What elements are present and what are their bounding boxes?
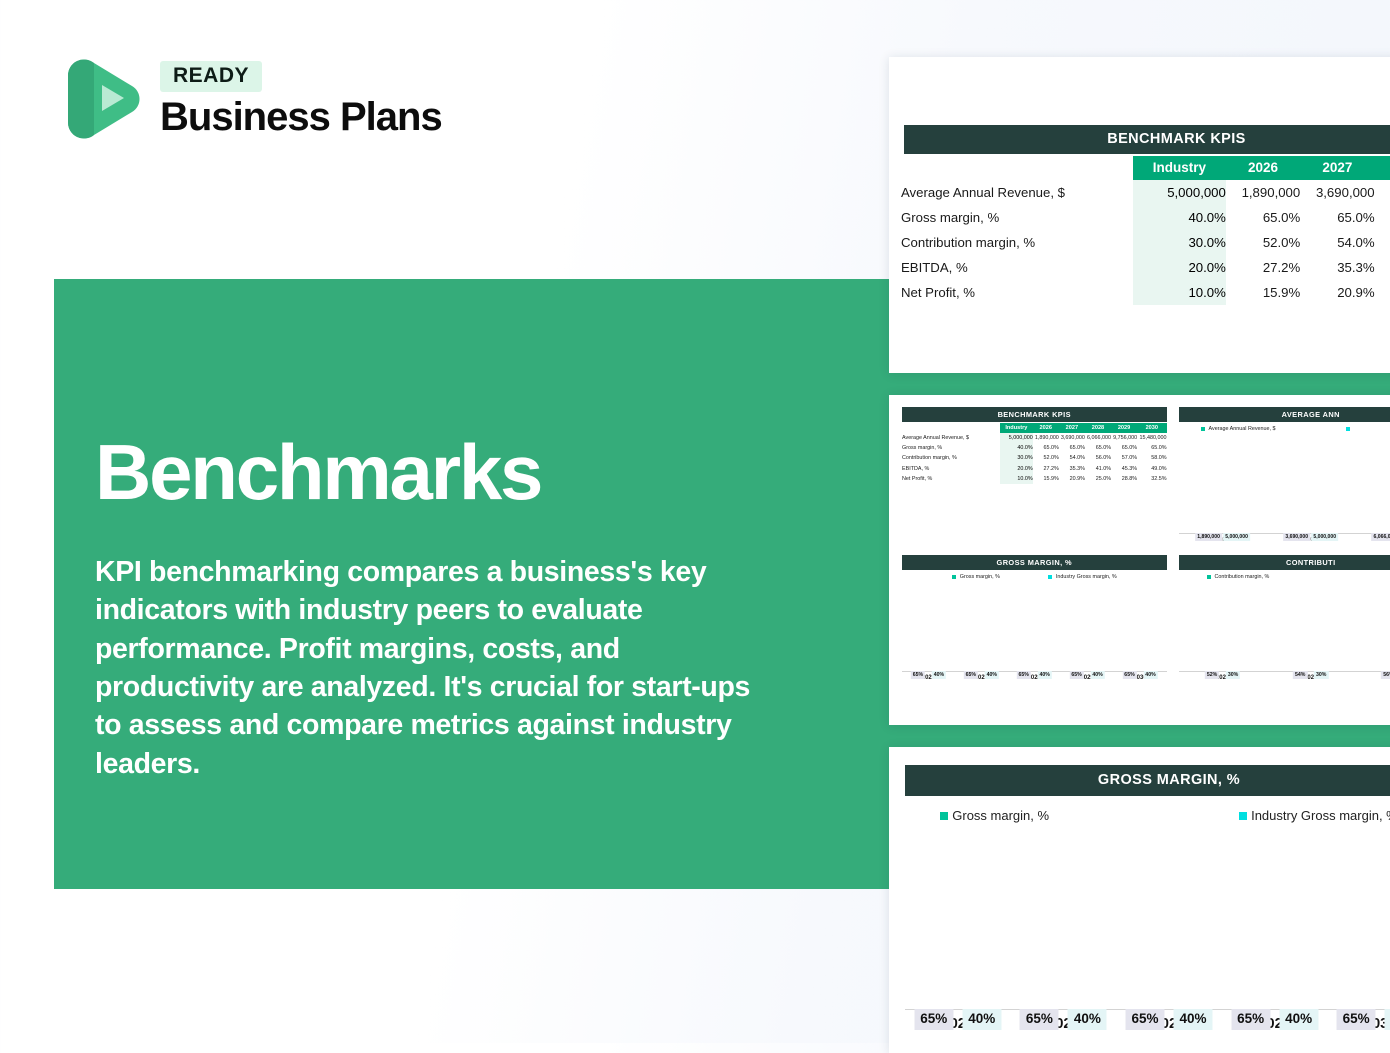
cell-2027: 35.3% [1300,255,1374,280]
column-header-2027: 2027 [1059,423,1085,433]
cell-2030: 65.0% [1137,443,1166,453]
table-row: Net Profit, % 10.0% 15.9% 20.9% 25.0% [901,280,1390,305]
legend-swatch-cyan-icon [1239,812,1247,820]
column-header-2029: 2029 [1111,423,1137,433]
bar-data-label: 65% [911,671,925,679]
cell-2027: 3,690,000 [1300,180,1374,205]
table-title-band: BENCHMARK KPIS [902,407,1167,422]
cell-2027: 20.9% [1059,474,1085,484]
play-triangle-logo-icon [58,52,142,142]
cell-2026: 27.2% [1226,255,1300,280]
pane-benchmark-table: BENCHMARK KPIS Industry 2026 2027 2028 2… [896,402,1173,550]
gross-margin-chart-large: 65%40%65%40%65%40%65%40%65%40% 202620272… [905,837,1390,1032]
cell-industry: 5,000,000 [1133,180,1226,205]
chart-plot-area: 52%30%54%30%56%30% [1179,583,1390,671]
cell-2026: 27.2% [1033,464,1059,474]
bar-data-label: 40% [1385,1009,1390,1030]
bar-data-label: 65% [914,1009,953,1030]
row-label: Net Profit, % [902,474,1000,484]
cell-2029: 57.0% [1111,453,1137,463]
chart-wrapper: GROSS MARGIN, % Gross margin, % Industry… [889,747,1390,1032]
bar-data-label: 65% [1017,671,1031,679]
table-row: EBITDA, % 20.0% 27.2% 35.3% 41.0% 45.3% … [902,464,1167,474]
cell-2029: 9,756,000 [1111,433,1137,443]
legend-swatch-green-icon [1201,427,1205,431]
row-label: Net Profit, % [901,280,1133,305]
brand-wordmark: READY Business Plans [160,57,442,138]
cell-2028: 56.0% [1375,230,1390,255]
table-title-band: BENCHMARK KPIS [904,125,1390,154]
legend-label: Industry Gross margin, % [1251,808,1390,823]
bar-data-label: 3,690,000 [1283,533,1311,541]
column-header-2026: 2026 [1033,423,1059,433]
table-row: Gross margin, % 40.0% 65.0% 65.0% 65.0% … [902,443,1167,453]
row-label: Contribution margin, % [901,230,1133,255]
table-row: Contribution margin, % 30.0% 52.0% 54.0%… [902,453,1167,463]
gross-margin-chart-mini: 65%40%65%40%65%40%65%40%65%40% 202620272… [902,583,1167,681]
cell-2028: 25.0% [1085,474,1111,484]
cell-2029: 65.0% [1111,443,1137,453]
bar-data-label: 65% [1020,1009,1059,1030]
gross-margin-chart-card: GROSS MARGIN, % Gross margin, % Industry… [889,747,1390,1053]
cell-2026: 1,890,000 [1226,180,1300,205]
hero-description: KPI benchmarking compares a business's k… [95,553,755,783]
cell-2026: 15.9% [1033,474,1059,484]
cell-2028: 6,066,000 [1375,180,1390,205]
cell-2028: 56.0% [1085,453,1111,463]
benchmark-kpis-table-mini: Industry 2026 2027 2028 2029 2030 Averag… [902,423,1167,484]
bar-data-label: 65% [964,671,978,679]
brand-name: Business Plans [160,96,442,138]
benchmark-kpis-table-card: BENCHMARK KPIS Industry 2026 2027 2028 A… [889,57,1390,373]
chart-title-band: CONTRIBUTI [1179,555,1390,570]
cell-2027: 54.0% [1059,453,1085,463]
average-annual-revenue-chart: 1,890,0005,000,0003,690,0005,000,0006,06… [1179,435,1390,543]
bar-data-label: 52% [1205,671,1219,679]
chart-title-band: AVERAGE ANN [1179,407,1390,422]
cell-2027: 54.0% [1300,230,1374,255]
cell-2026: 1,890,000 [1033,433,1059,443]
bar-data-label: 65% [1337,1009,1376,1030]
bar-data-label: 65% [1125,1009,1164,1030]
cell-industry: 20.0% [1000,464,1033,474]
legend-swatch-cyan-icon [1346,427,1350,431]
cell-industry: 30.0% [1000,453,1033,463]
column-header-industry: Industry [1000,423,1033,433]
cell-2027: 35.3% [1059,464,1085,474]
cell-2028: 41.0% [1375,255,1390,280]
cell-2027: 3,690,000 [1059,433,1085,443]
bar-data-label: 40% [962,1009,1001,1030]
cell-industry: 40.0% [1000,443,1033,453]
cell-2028: 6,066,000 [1085,433,1111,443]
bar-data-label: 65% [1069,671,1083,679]
column-header-2030: 2030 [1137,423,1166,433]
row-label: Gross margin, % [901,205,1133,230]
bar-data-label: 54% [1293,671,1307,679]
legend-entry-gross-margin: Gross margin, % [940,808,1049,823]
chart-plot-area: 1,890,0005,000,0003,690,0005,000,0006,06… [1179,435,1390,533]
bar-data-label: 56% [1381,671,1390,679]
column-header-2026: 2026 [1226,156,1300,180]
legend-entry-industry-revenue [1346,427,1350,431]
cell-2026: 65.0% [1226,205,1300,230]
legend-entry-revenue: Average Annual Revenue, $ [1201,426,1276,432]
cell-industry: 10.0% [1133,280,1226,305]
legend-swatch-cyan-icon [1048,575,1052,579]
chart-plot-area: 65%40%65%40%65%40%65%40%65%40% [902,583,1167,671]
legend-label: Gross margin, % [960,574,1000,580]
dashboard-overview-card: BENCHMARK KPIS Industry 2026 2027 2028 2… [889,395,1390,725]
pane-contribution-margin-chart: CONTRIBUTI Contribution margin, % 52%30%… [1173,550,1390,718]
hero-content: Benchmarks KPI benchmarking compares a b… [95,433,775,783]
legend-swatch-green-icon [952,575,956,579]
cell-2028: 41.0% [1085,464,1111,474]
cell-2028: 65.0% [1085,443,1111,453]
legend-entry-industry-gross-margin: Industry Gross margin, % [1239,808,1390,823]
chart-legend: Gross margin, % Industry Gross margin, % [905,808,1390,823]
legend-entry-gross-margin: Gross margin, % [952,574,1000,580]
chart-legend: Contribution margin, % [1179,574,1390,580]
brand-logo-block: READY Business Plans [58,52,442,142]
table-row: Average Annual Revenue, $ 5,000,000 1,89… [901,180,1390,205]
legend-label: Contribution margin, % [1215,574,1270,580]
bar-data-label: 65% [1231,1009,1270,1030]
cell-2027: 65.0% [1300,205,1374,230]
chart-title-band: GROSS MARGIN, % [905,765,1390,796]
bar-data-label: 1,890,000 [1195,533,1223,541]
row-label: Average Annual Revenue, $ [901,180,1133,205]
chart-legend: Gross margin, % Industry Gross margin, % [902,574,1167,580]
bar-data-label: 40% [1279,1009,1318,1030]
cell-industry: 5,000,000 [1000,433,1033,443]
cell-industry: 10.0% [1000,474,1033,484]
chart-legend: Average Annual Revenue, $ [1179,426,1390,432]
cell-industry: 30.0% [1133,230,1226,255]
cell-2030: 49.0% [1137,464,1166,474]
cell-2029: 28.8% [1111,474,1137,484]
row-label: Contribution margin, % [902,453,1000,463]
pane-average-annual-revenue-chart: AVERAGE ANN Average Annual Revenue, $ 1,… [1173,402,1390,550]
bar-data-label: 65% [1122,671,1136,679]
pane-gross-margin-chart: GROSS MARGIN, % Gross margin, % Industry… [896,550,1173,718]
cell-2030: 15,480,000 [1137,433,1166,443]
chart-title-band: GROSS MARGIN, % [902,555,1167,570]
cell-2026: 65.0% [1033,443,1059,453]
row-label: EBITDA, % [902,464,1000,474]
bar-data-label: 5,000,000 [1223,533,1251,541]
bar-data-label: 5,000,000 [1311,533,1339,541]
benchmark-kpis-table: Industry 2026 2027 2028 Average Annual R… [901,156,1390,305]
chart-plot-area: 65%40%65%40%65%40%65%40%65%40% [905,837,1390,1009]
spreadsheet-sheet: BENCHMARK KPIS Industry 2026 2027 2028 A… [889,57,1390,305]
table-row: EBITDA, % 20.0% 27.2% 35.3% 41.0% [901,255,1390,280]
table-header-row: Industry 2026 2027 2028 2029 2030 [902,423,1167,433]
legend-entry-industry-gross-margin: Industry Gross margin, % [1048,574,1117,580]
contribution-margin-chart-mini: 52%30%54%30%56%30% 202620272028 [1179,583,1390,681]
cell-2028: 65.0% [1375,205,1390,230]
bar-data-label: 30% [1314,671,1328,679]
legend-label: Gross margin, % [952,808,1049,823]
legend-label: Industry Gross margin, % [1056,574,1117,580]
bar-data-label: 40% [1038,671,1052,679]
cell-2026: 15.9% [1226,280,1300,305]
cell-2029: 45.3% [1111,464,1137,474]
row-label: EBITDA, % [901,255,1133,280]
column-header-2027: 2027 [1300,156,1374,180]
bar-data-label: 40% [1173,1009,1212,1030]
bar-data-label: 40% [1090,671,1104,679]
legend-entry-contribution-margin: Contribution margin, % [1207,574,1270,580]
row-label: Average Annual Revenue, $ [902,433,1000,443]
column-header-2028: 2028 [1375,156,1390,180]
cell-2027: 65.0% [1059,443,1085,453]
cell-2030: 58.0% [1137,453,1166,463]
bar-data-label: 30% [1226,671,1240,679]
ready-badge: READY [160,61,262,92]
column-header-2028: 2028 [1085,423,1111,433]
legend-swatch-green-icon [940,812,948,820]
cell-2028: 25.0% [1375,280,1390,305]
table-row: Net Profit, % 10.0% 15.9% 20.9% 25.0% 28… [902,474,1167,484]
dashboard-grid: BENCHMARK KPIS Industry 2026 2027 2028 2… [889,395,1390,725]
bar-data-label: 40% [985,671,999,679]
table-corner-cell [902,423,1000,433]
bar-data-label: 6,066,000 [1371,533,1390,541]
cell-2027: 20.9% [1300,280,1374,305]
table-header-row: Industry 2026 2027 2028 [901,156,1390,180]
bar-data-label: 40% [1068,1009,1107,1030]
cell-industry: 40.0% [1133,205,1226,230]
cell-2026: 52.0% [1033,453,1059,463]
table-row: Gross margin, % 40.0% 65.0% 65.0% 65.0% [901,205,1390,230]
column-header-industry: Industry [1133,156,1226,180]
legend-swatch-green-icon [1207,575,1211,579]
table-row: Contribution margin, % 30.0% 52.0% 54.0%… [901,230,1390,255]
cell-industry: 20.0% [1133,255,1226,280]
bar-data-label: 40% [932,671,946,679]
cell-2030: 32.5% [1137,474,1166,484]
page-title: Benchmarks [95,433,775,511]
cell-2026: 52.0% [1226,230,1300,255]
bar-data-label: 40% [1143,671,1157,679]
row-label: Gross margin, % [902,443,1000,453]
table-row: Average Annual Revenue, $ 5,000,000 1,89… [902,433,1167,443]
legend-label: Average Annual Revenue, $ [1209,426,1276,432]
table-corner-cell [901,156,1133,180]
